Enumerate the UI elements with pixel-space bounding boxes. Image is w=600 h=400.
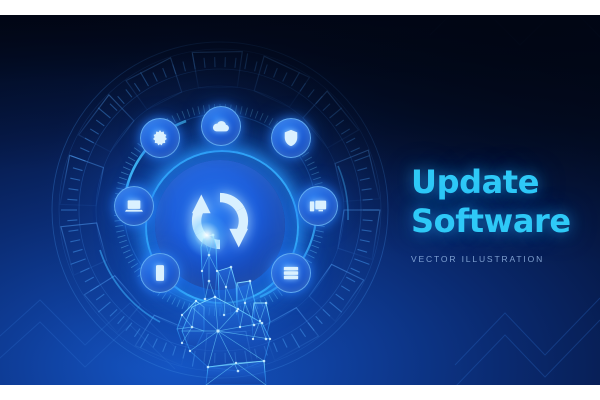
laptop-icon [124, 196, 144, 216]
text-block: Update Software VECTOR ILLUSTRATION [411, 163, 591, 264]
gear-icon [150, 128, 170, 148]
wireframe-hand [152, 211, 302, 385]
gear-icon-node[interactable] [140, 118, 180, 158]
title-line-1: Update [411, 163, 591, 202]
cloud-icon-node[interactable] [201, 106, 241, 146]
illustration-stage: Update Software VECTOR ILLUSTRATION [0, 0, 600, 400]
devices-icon-node[interactable] [298, 186, 338, 226]
shield-check-icon [281, 128, 301, 148]
cloud-icon [211, 116, 231, 136]
artwork-canvas: Update Software VECTOR ILLUSTRATION [0, 15, 600, 385]
devices-icon [308, 196, 328, 216]
shield-check-icon-node[interactable] [271, 118, 311, 158]
laptop-icon-node[interactable] [114, 186, 154, 226]
title-line-2: Software [411, 202, 591, 241]
subtitle: VECTOR ILLUSTRATION [411, 254, 591, 264]
